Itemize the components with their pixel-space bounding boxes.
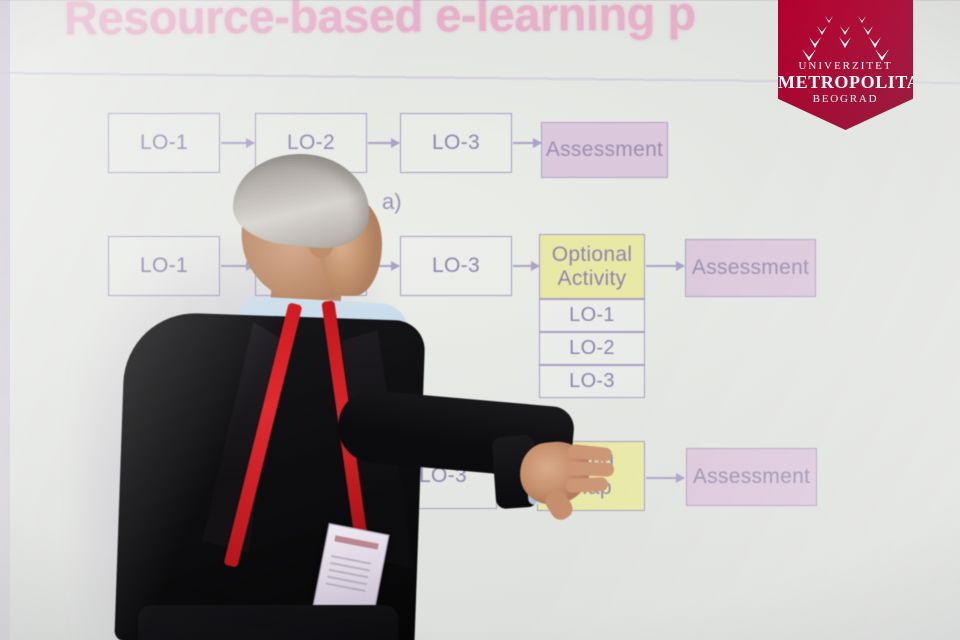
slide-title: Resource-based e-learning p: [64, 0, 696, 45]
chevron-flock-icon: [778, 14, 913, 64]
arrow-a-2: [368, 142, 399, 144]
wall-edge-strip: [0, 0, 10, 640]
arrow-a-3: [513, 142, 541, 144]
node-c-assessment: Assessment: [686, 448, 817, 506]
logo-line-metropolitan: METROPOLITAN: [778, 72, 913, 93]
arrow-b-4: [646, 265, 684, 267]
logo-line-beograd: BEOGRAD: [778, 93, 913, 105]
presenter-finger-middle: [568, 461, 614, 477]
node-b-assessment: Assessment: [685, 239, 816, 297]
arrow-c-2: [646, 477, 684, 479]
presenter-figure: [20, 150, 580, 640]
presenter-trousers: [138, 605, 398, 640]
logo-line-universitet: UNIVERZITET: [778, 60, 913, 72]
presenter-finger-ring: [566, 477, 609, 493]
arrow-a-1: [221, 142, 254, 144]
presentation-photo: Resource-based e-learning p LO-1 LO-2 LO…: [0, 0, 960, 640]
